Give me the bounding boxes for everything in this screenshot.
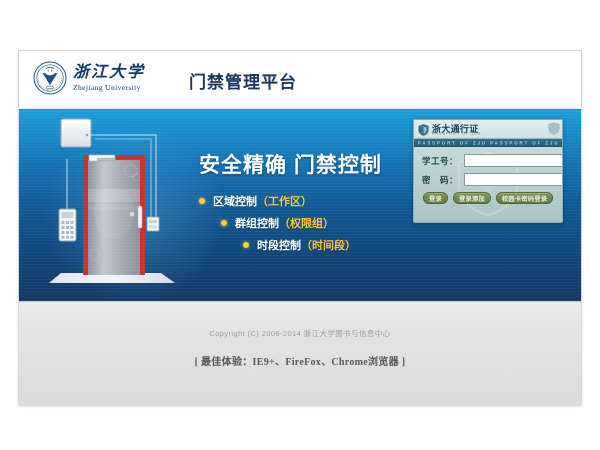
- login-add-button[interactable]: 登录添加: [453, 192, 491, 204]
- logo-name-cn: 浙江大学: [73, 65, 145, 81]
- feature-label: 区域控制: [213, 193, 257, 209]
- campus-card-login-button[interactable]: 校园卡密码登录: [496, 192, 553, 204]
- page-container: 浙江大学 Zhejiang University 门禁管理平台: [18, 50, 582, 406]
- site-logo[interactable]: 浙江大学 Zhejiang University: [33, 61, 145, 95]
- list-item: 时段控制 （时间段）: [243, 237, 414, 253]
- login-button-group: 登录 登录添加 校园卡密码登录: [422, 192, 554, 204]
- hero-banner: 安全精确 门禁控制 区域控制 （工作区） 群组控制 （权限组） 时段控制 （时间…: [19, 109, 581, 301]
- banner-headline: 安全精确 门禁控制: [199, 149, 414, 179]
- list-item: 群组控制 （权限组）: [221, 215, 414, 231]
- login-panel: 浙大通行证 PASSPORT OF ZJU PASSPORT OF ZJU PA…: [413, 119, 563, 223]
- password-input[interactable]: [464, 173, 563, 186]
- login-button[interactable]: 登录: [423, 192, 448, 204]
- copyright-text: Copyright (C) 2008-2014 浙江大学图书与信息中心: [19, 302, 581, 339]
- username-field-row: 学工号：: [422, 154, 554, 167]
- banner-feature-list: 区域控制 （工作区） 群组控制 （权限组） 时段控制 （时间段）: [199, 193, 414, 253]
- username-input[interactable]: [464, 154, 563, 167]
- login-form: 学工号： 密 码： 登录 登录添加 校园卡密码登录: [414, 147, 562, 204]
- password-label: 密 码：: [422, 174, 464, 186]
- shield-watermark-icon: [548, 122, 560, 135]
- feature-accent: （时间段）: [301, 237, 356, 253]
- logo-wordmark: 浙江大学 Zhejiang University: [73, 65, 145, 92]
- feature-label: 时段控制: [257, 237, 301, 253]
- bullet-dot-icon: [199, 198, 205, 204]
- site-header: 浙江大学 Zhejiang University 门禁管理平台: [19, 51, 581, 109]
- feature-accent: （权限组）: [279, 215, 334, 231]
- list-item: 区域控制 （工作区）: [199, 193, 414, 209]
- banner-copy: 安全精确 门禁控制 区域控制 （工作区） 群组控制 （权限组） 时段控制 （时间…: [199, 149, 414, 269]
- password-field-row: 密 码：: [422, 173, 554, 186]
- page-title: 门禁管理平台: [189, 68, 297, 93]
- logo-name-en: Zhejiang University: [73, 84, 145, 92]
- access-control-door-illustration: [43, 113, 183, 298]
- shield-icon: [418, 123, 429, 135]
- login-panel-titlebar: 浙大通行证 PASSPORT OF ZJU: [414, 120, 562, 139]
- feature-accent: （工作区）: [257, 193, 312, 209]
- bullet-dot-icon: [243, 242, 249, 248]
- login-panel-watermark-strip: PASSPORT OF ZJU PASSPORT OF ZJU PASSPORT…: [414, 139, 562, 147]
- zju-emblem-icon: [33, 61, 67, 95]
- login-panel-subtitle: PASSPORT OF ZJU: [432, 131, 481, 135]
- site-footer: Copyright (C) 2008-2014 浙江大学图书与信息中心 [ 最佳…: [19, 301, 581, 406]
- username-label: 学工号：: [422, 155, 464, 167]
- strip-text: PASSPORT OF ZJU PASSPORT OF ZJU PASSPORT…: [414, 141, 562, 146]
- feature-label: 群组控制: [235, 215, 279, 231]
- browser-support-text: [ 最佳体验：IE9+、FireFox、Chrome浏览器 ]: [19, 353, 581, 368]
- bullet-dot-icon: [221, 220, 227, 226]
